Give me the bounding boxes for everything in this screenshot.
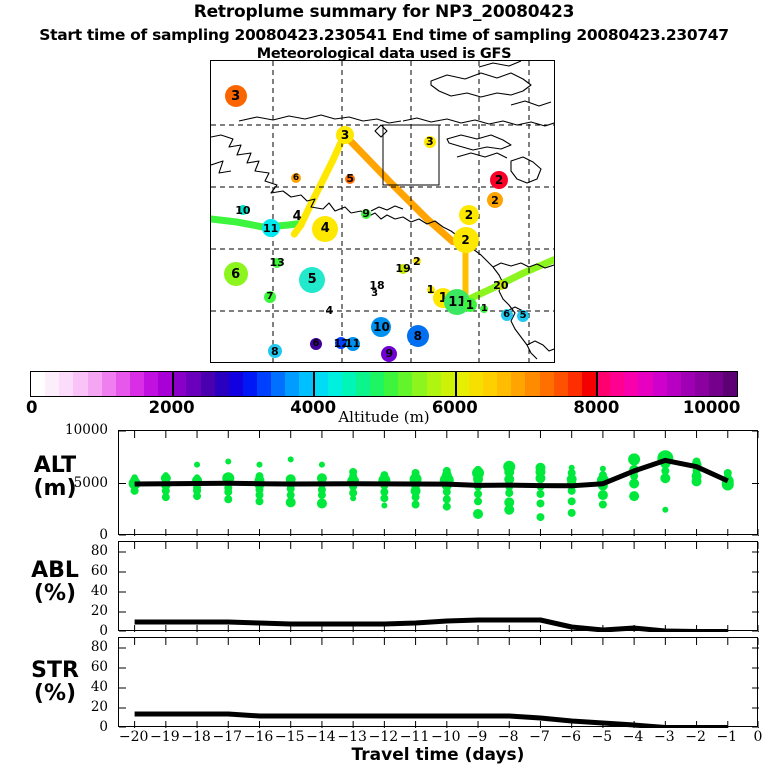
colorbar-swatch <box>186 372 200 396</box>
x-tick-label: −12 <box>369 729 399 745</box>
altitude-scatter-point <box>412 501 420 509</box>
x-axis-title: Travel time (days) <box>118 745 758 765</box>
map-particle-marker: 3 <box>225 85 247 107</box>
x-tick-label: −16 <box>244 729 274 745</box>
colorbar-swatch <box>314 372 328 396</box>
colorbar-swatch <box>201 372 215 396</box>
alt-y-tick-label: 10000 <box>48 422 108 438</box>
altitude-scatter-point <box>568 497 576 505</box>
map-particle-marker: 5 <box>299 267 325 293</box>
colorbar-swatch <box>554 372 568 396</box>
map-particle-marker: 6 <box>310 338 322 350</box>
colorbar-swatch <box>243 372 257 396</box>
map-marker-label: 5 <box>520 311 527 321</box>
abl-panel[interactable] <box>118 541 758 631</box>
map-marker-label: 10 <box>373 321 390 333</box>
abl-y-tick-label: 20 <box>48 603 108 619</box>
map-marker-label: 1 <box>481 304 488 314</box>
map-particle-marker: 6 <box>224 262 248 286</box>
x-tick-label: 0 <box>754 729 763 745</box>
altitude-scatter-point <box>598 490 608 500</box>
colorbar-swatch <box>88 372 102 396</box>
colorbar-swatch <box>540 372 554 396</box>
x-tick-label: −5 <box>592 729 613 745</box>
map-marker-label: 4 <box>326 305 334 316</box>
x-tick-label: −20 <box>119 729 149 745</box>
altitude-scatter-point <box>163 472 169 478</box>
map-trajectory <box>347 137 467 242</box>
altitude-scatter-point <box>255 472 263 480</box>
x-tick-label: −2 <box>685 729 706 745</box>
x-tick-label: −1 <box>716 729 737 745</box>
map-particle-marker: 19 <box>398 264 408 274</box>
colorbar-swatch <box>73 372 87 396</box>
map-particle-marker: 1 <box>463 298 477 312</box>
altitude-scatter-point <box>319 462 325 468</box>
altitude-scatter-point <box>536 513 544 521</box>
map-marker-label: 2 <box>461 234 469 246</box>
altitude-scatter-point <box>599 471 607 479</box>
altitude-scatter-point <box>194 462 200 468</box>
map-trajectory <box>211 219 301 227</box>
map-marker-label: 4 <box>293 210 302 223</box>
alt-plot-area <box>119 431 759 536</box>
abl-y-tick-label: 80 <box>48 543 108 559</box>
colorbar-swatch <box>144 372 158 396</box>
colorbar-swatch <box>624 372 638 396</box>
map-marker-label: 8 <box>271 346 279 357</box>
colorbar-swatch <box>568 372 582 396</box>
str-y-tick-label: 60 <box>48 659 108 675</box>
colorbar-swatch <box>370 372 384 396</box>
colorbar-swatch <box>653 372 667 396</box>
x-tick-label: −17 <box>212 729 242 745</box>
alt-y-tick-label: 5000 <box>48 475 108 491</box>
colorbar-title: Altitude (m) <box>0 408 768 426</box>
x-tick-label: −4 <box>623 729 644 745</box>
map-particle-marker: 4 <box>312 216 338 242</box>
map-particle-marker: 7 <box>264 291 276 303</box>
colorbar-swatch <box>215 372 229 396</box>
map-particle-marker: 11 <box>346 337 360 351</box>
altitude-scatter-point <box>629 491 639 501</box>
altitude-scatter-point <box>599 501 607 509</box>
colorbar-divider <box>313 371 315 397</box>
map-marker-label: 9 <box>362 208 370 219</box>
x-tick-label: −9 <box>467 729 488 745</box>
x-tick-label: −14 <box>306 729 336 745</box>
sampling-times: Start time of sampling 20080423.230541 E… <box>0 26 768 44</box>
colorbar-swatch <box>497 372 511 396</box>
map-marker-label: 3 <box>341 129 349 141</box>
abl-y-tick-label: 0 <box>48 623 108 639</box>
colorbar-swatch <box>427 372 441 396</box>
map-marker-label: 1 <box>466 299 474 311</box>
map-marker-label: 6 <box>293 174 299 183</box>
map-particle-marker: 8 <box>407 325 429 347</box>
colorbar-swatch <box>681 372 695 396</box>
map-particle-marker: 2 <box>490 171 508 189</box>
colorbar-divider <box>596 371 598 397</box>
x-tick-label: −8 <box>498 729 519 745</box>
map-marker-label: 8 <box>414 330 422 342</box>
colorbar-swatch <box>638 372 652 396</box>
colorbar-swatch <box>667 372 681 396</box>
altitude-scatter-point <box>225 458 231 464</box>
x-tick-label: −15 <box>275 729 305 745</box>
map-particle-marker: 8 <box>268 344 282 358</box>
map-marker-label: 13 <box>270 257 285 268</box>
str-y-tick-label: 20 <box>48 699 108 715</box>
altitude-scatter-point <box>568 509 576 517</box>
x-tick-label: −6 <box>560 729 581 745</box>
map-marker-label: 3 <box>426 136 434 147</box>
colorbar-swatch <box>31 372 45 396</box>
map-particle-marker: 2 <box>453 227 479 253</box>
colorbar-swatch <box>342 372 356 396</box>
colorbar-swatch <box>130 372 144 396</box>
altitude-scatter-point <box>504 497 514 507</box>
map-particle-marker: 20 <box>496 280 506 290</box>
colorbar-swatch <box>172 372 186 396</box>
alt-y-tick-label: 0 <box>48 527 108 543</box>
altitude-scatter-point <box>194 474 200 480</box>
colorbar-swatch <box>257 372 271 396</box>
altitude-scatter-point <box>536 490 544 498</box>
map-marker-label: 7 <box>267 292 274 302</box>
map-particle-marker: 1 <box>480 305 488 313</box>
map-particle-marker: 5 <box>345 174 355 184</box>
x-tick-label: −10 <box>431 729 461 745</box>
map-particle-marker: 1 <box>427 286 435 294</box>
map-particle-marker: 10 <box>371 317 391 337</box>
retroplume-map[interactable]: 3332256104114922613571921831111120165410… <box>210 60 555 363</box>
map-marker-label: 2 <box>413 256 421 267</box>
colorbar-swatch <box>398 372 412 396</box>
colorbar-swatch <box>483 372 497 396</box>
colorbar-swatch <box>412 372 426 396</box>
altitude-scatter-point <box>380 471 388 479</box>
abl-mean-line <box>135 620 728 632</box>
map-marker-label: 2 <box>465 209 473 221</box>
colorbar-swatch <box>285 372 299 396</box>
altitude-scatter-point <box>600 466 606 472</box>
colorbar-swatch <box>229 372 243 396</box>
colorbar-swatch <box>582 372 596 396</box>
map-particle-marker: 3 <box>336 126 354 144</box>
altitude-scatter-point <box>443 467 451 475</box>
colorbar-swatch <box>45 372 59 396</box>
altitude-scatter-point <box>256 462 262 468</box>
colorbar-divider <box>455 371 457 397</box>
map-marker-label: 5 <box>308 273 317 286</box>
colorbar-swatch <box>59 372 73 396</box>
altitude-scatter-point <box>569 465 575 471</box>
altitude-scatter-point <box>474 497 482 505</box>
map-marker-label: 3 <box>371 289 378 299</box>
altitude-scatter-point <box>443 503 451 511</box>
altitude-scatter-point <box>288 456 294 462</box>
map-particle-marker: 6 <box>291 173 301 183</box>
altitude-scatter-point <box>724 469 732 477</box>
str-y-tick-label: 40 <box>48 679 108 695</box>
altitude-scatter-point <box>381 503 387 509</box>
map-marker-label: 4 <box>321 222 330 235</box>
map-particle-marker: 9 <box>381 346 397 362</box>
map-marker-label: 6 <box>312 339 319 349</box>
altitude-scatter-point <box>536 499 544 507</box>
altitude-scatter-point <box>503 461 515 473</box>
str-mean-line <box>135 714 728 728</box>
map-particle-marker: 2 <box>487 192 503 208</box>
colorbar-swatch <box>299 372 313 396</box>
map-particle-marker: 10 <box>238 205 248 215</box>
page-title: Retroplume summary for NP3_20080423 <box>0 2 768 22</box>
altitude-scatter-point <box>443 495 451 503</box>
map-marker-label: 2 <box>495 174 503 186</box>
colorbar-swatch <box>709 372 723 396</box>
colorbar-swatch <box>356 372 370 396</box>
map-particle-marker: 13 <box>272 258 282 268</box>
colorbar-swatch <box>328 372 342 396</box>
colorbar-swatch <box>469 372 483 396</box>
map-particle-marker: 2 <box>459 205 479 225</box>
map-marker-label: 2 <box>491 195 499 206</box>
map-particle-marker: 5 <box>517 310 529 322</box>
abl-y-tick-label: 40 <box>48 583 108 599</box>
map-marker-label: 6 <box>231 268 240 281</box>
altitude-scatter-point <box>474 466 482 474</box>
abl-y-tick-label: 60 <box>48 563 108 579</box>
altitude-colorbar[interactable] <box>30 371 738 397</box>
map-particle-marker: 9 <box>361 209 371 219</box>
altitude-scatter-point <box>473 509 483 519</box>
str-y-tick-label: 80 <box>48 639 108 655</box>
str-plot-area <box>119 638 759 728</box>
altitude-scatter-point <box>317 498 327 508</box>
altitude-scatter-point <box>224 495 232 503</box>
colorbar-swatch <box>158 372 172 396</box>
colorbar-swatch <box>384 372 398 396</box>
map-particle-marker: 11 <box>262 219 280 237</box>
colorbar-divider <box>172 371 174 397</box>
map-particle-marker: 3 <box>424 136 436 148</box>
map-marker-label: 20 <box>493 280 508 291</box>
map-marker-label: 5 <box>346 173 354 184</box>
colorbar-swatch <box>610 372 624 396</box>
colorbar-swatch <box>271 372 285 396</box>
x-tick-label: −13 <box>337 729 367 745</box>
map-marker-label: 19 <box>395 263 410 274</box>
colorbar-swatch <box>455 372 469 396</box>
x-tick-label: −11 <box>400 729 430 745</box>
x-tick-label: −3 <box>654 729 675 745</box>
altitude-scatter-point <box>412 469 420 477</box>
altitude-scatter-point <box>132 474 138 480</box>
altitude-scatter-point <box>349 468 357 476</box>
x-tick-label: −18 <box>181 729 211 745</box>
colorbar-swatch <box>441 372 455 396</box>
colorbar-swatch <box>695 372 709 396</box>
abl-plot-area <box>119 542 759 632</box>
altitude-scatter-point <box>662 507 668 513</box>
colorbar-swatch <box>525 372 539 396</box>
map-marker-label: 6 <box>503 310 510 320</box>
colorbar-swatch <box>116 372 130 396</box>
str-panel[interactable] <box>118 637 758 727</box>
altitude-scatter-point <box>628 453 640 465</box>
altitude-scatter-point <box>535 463 545 473</box>
map-particle-marker: 2 <box>413 257 421 265</box>
colorbar-swatch <box>511 372 525 396</box>
colorbar-swatch <box>723 372 737 396</box>
x-tick-label: −19 <box>150 729 180 745</box>
map-marker-label: 11 <box>345 338 360 349</box>
altitude-panel[interactable] <box>118 430 758 535</box>
x-tick-label: −7 <box>529 729 550 745</box>
map-marker-label: 9 <box>386 348 394 359</box>
colorbar-swatch <box>102 372 116 396</box>
map-marker-label: 10 <box>235 205 250 216</box>
str-y-tick-label: 0 <box>48 719 108 735</box>
map-marker-label: 3 <box>231 90 240 103</box>
map-marker-label: 11 <box>263 223 278 234</box>
map-particle-marker: 6 <box>501 309 513 321</box>
altitude-scatter-point <box>474 490 482 498</box>
